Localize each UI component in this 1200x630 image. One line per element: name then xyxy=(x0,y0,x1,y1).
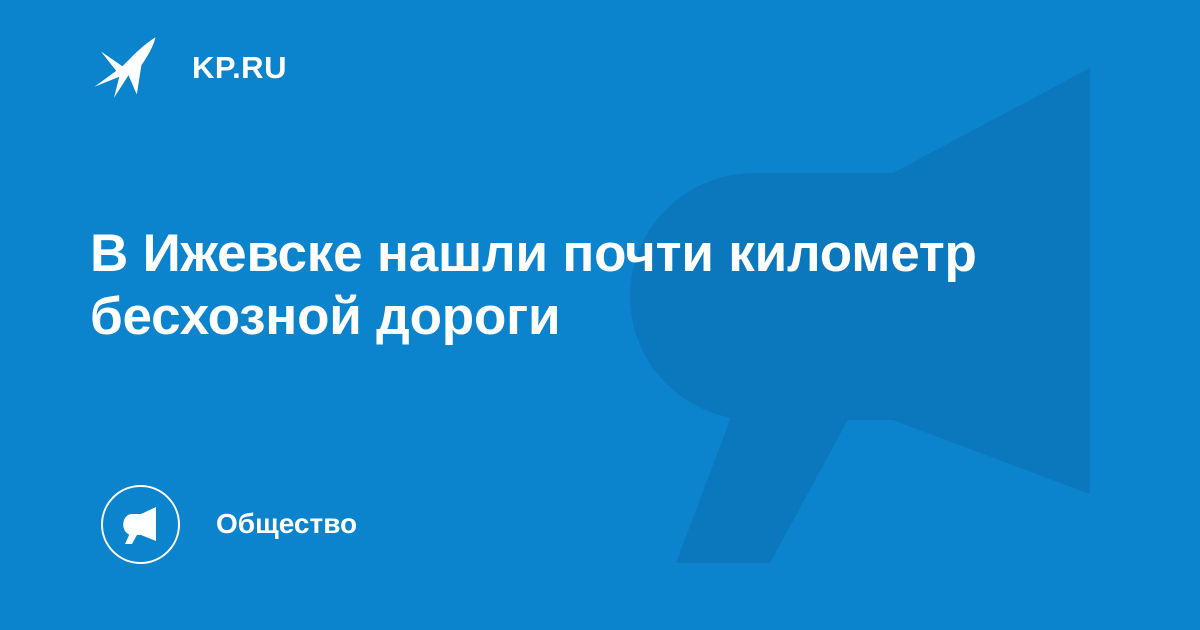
brand-name-label: KP.RU xyxy=(192,52,287,83)
megaphone-icon xyxy=(119,504,163,544)
brand-header: KP.RU xyxy=(92,34,287,100)
swallow-bird-icon xyxy=(92,34,162,100)
headline-title: В Ижевске нашли почти километр бесхозной… xyxy=(90,222,1090,348)
category-badge[interactable]: Общество xyxy=(101,484,357,564)
article-share-card: KP.RU В Ижевске нашли почти километр бес… xyxy=(0,0,1200,630)
category-icon-circle xyxy=(101,485,180,564)
category-label: Общество xyxy=(216,510,357,538)
